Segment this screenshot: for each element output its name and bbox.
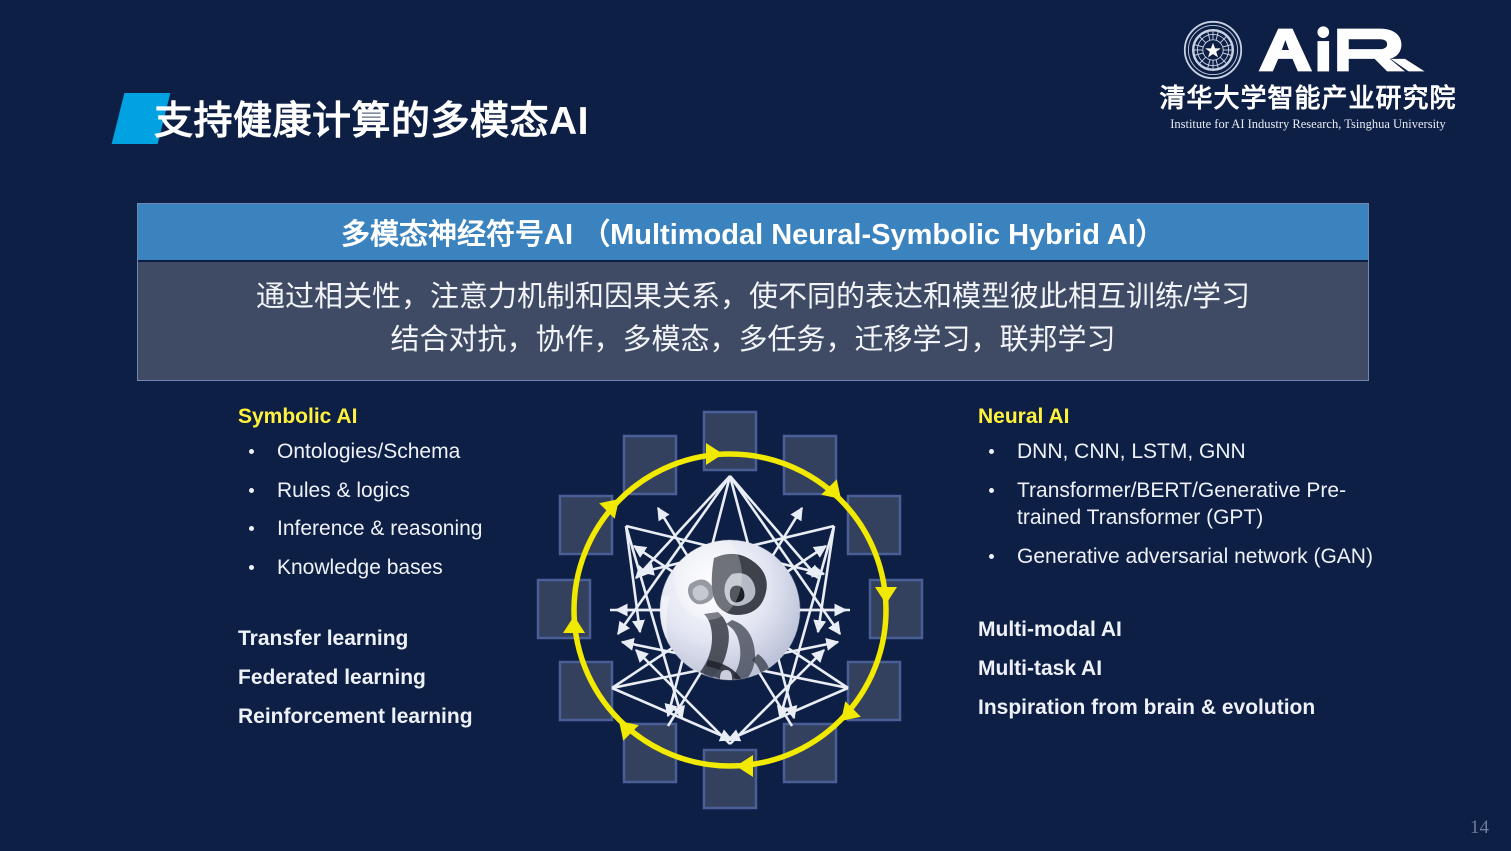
list-item: Federated learning [238,667,538,688]
neural-ai-bullet-list: DNN, CNN, LSTM, GNN Transformer/BERT/Gen… [978,438,1373,571]
list-item: Transformer/BERT/Generative Pre-trained … [978,477,1373,532]
list-item: Inference & reasoning [238,515,538,543]
list-item: Reinforcement learning [238,706,538,727]
logo-english-name: Institute for AI Industry Research, Tsin… [1133,117,1483,132]
logo-top-row [1133,18,1483,82]
institution-logo: 清华大学智能产业研究院 Institute for AI Industry Re… [1133,18,1483,132]
list-item: DNN, CNN, LSTM, GNN [978,438,1373,466]
banner-body-line: 结合对抗，协作，多模态，多任务，迁移学习，联邦学习 [148,319,1358,362]
air-wordmark-icon [1255,25,1434,75]
symbolic-ai-bullet-list: Ontologies/Schema Rules & logics Inferen… [238,438,538,582]
logo-chinese-name: 清华大学智能产业研究院 [1133,84,1483,113]
symbolic-ai-heading: Symbolic AI [238,405,538,429]
list-item: Transfer learning [238,628,538,649]
list-item: Multi-task AI [978,658,1373,679]
neural-ai-column: Neural AI DNN, CNN, LSTM, GNN Transforme… [978,405,1373,736]
banner-header: 多模态神经符号AI （Multimodal Neural-Symbolic Hy… [138,204,1368,262]
symbolic-ai-column: Symbolic AI Ontologies/Schema Rules & lo… [238,405,538,745]
slide-root: 支持健康计算的多模态AI [0,0,1511,851]
list-item: Rules & logics [238,477,538,505]
list-item: Generative adversarial network (GAN) [978,543,1373,571]
page-title: 支持健康计算的多模态AI [118,90,589,146]
list-item: Ontologies/Schema [238,438,538,466]
banner-body: 通过相关性，注意力机制和因果关系，使不同的表达和模型彼此相互训练/学习 结合对抗… [138,262,1368,380]
neural-symbolic-interaction-ring [518,398,942,822]
page-number: 14 [1470,817,1489,839]
tsinghua-seal-icon [1183,20,1243,80]
page-title-label: 支持健康计算的多模态AI [154,90,589,146]
neural-ai-heading: Neural AI [978,405,1373,429]
neural-ai-footnote-list: Multi-modal AI Multi-task AI Inspiration… [978,619,1373,718]
concept-banner: 多模态神经符号AI （Multimodal Neural-Symbolic Hy… [137,203,1369,381]
list-item: Inspiration from brain & evolution [978,697,1373,718]
banner-body-line: 通过相关性，注意力机制和因果关系，使不同的表达和模型彼此相互训练/学习 [148,276,1358,319]
banner-header-label: 多模态神经符号AI （Multimodal Neural-Symbolic Hy… [341,211,1165,253]
symbolic-ai-footnote-list: Transfer learning Federated learning Rei… [238,628,538,727]
list-item: Multi-modal AI [978,619,1373,640]
list-item: Knowledge bases [238,554,538,582]
